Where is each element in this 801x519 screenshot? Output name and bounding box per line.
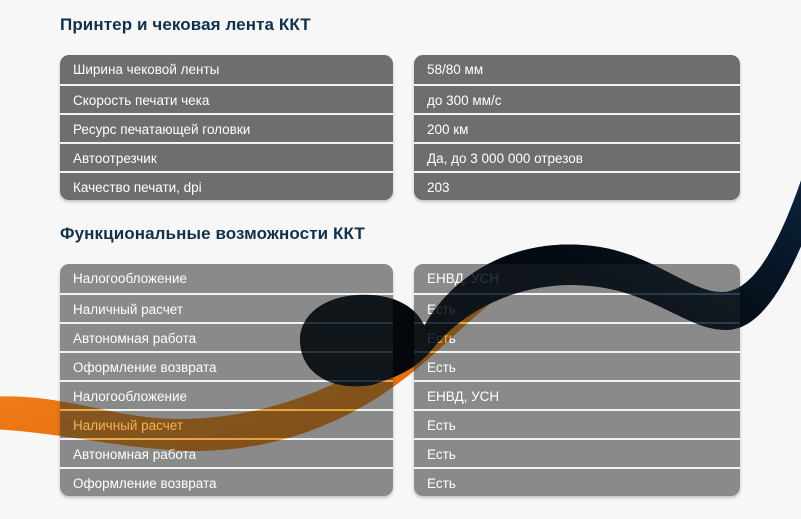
table-row: Наличный расчет xyxy=(60,409,393,438)
table-row: Ресурс печатающей головки xyxy=(60,113,393,142)
spec-table-features: Налогообложение Наличный расчет Автономн… xyxy=(60,264,740,496)
table-row: Налогообложение xyxy=(60,264,393,293)
table-row: Налогообложение xyxy=(60,380,393,409)
table-row: Автоотрезчик xyxy=(60,142,393,171)
table-row: до 300 мм/с xyxy=(414,84,740,113)
table-row: Есть xyxy=(414,438,740,467)
spec-column-values: ЕНВД, УСН Есть Есть Есть ЕНВД, УСН Есть … xyxy=(414,264,740,496)
table-row: ЕНВД, УСН xyxy=(414,264,740,293)
table-row: Оформление возврата xyxy=(60,467,393,496)
spec-column-labels: Налогообложение Наличный расчет Автономн… xyxy=(60,264,393,496)
table-row: 58/80 мм xyxy=(414,55,740,84)
table-row: Есть xyxy=(414,351,740,380)
table-row: Автономная работа xyxy=(60,322,393,351)
table-row: 200 км xyxy=(414,113,740,142)
table-row: Есть xyxy=(414,409,740,438)
table-row: Есть xyxy=(414,293,740,322)
spec-table-printer: Ширина чековой ленты Скорость печати чек… xyxy=(60,55,740,200)
table-row: Есть xyxy=(414,467,740,496)
table-row: Да, до 3 000 000 отрезов xyxy=(414,142,740,171)
table-row: Наличный расчет xyxy=(60,293,393,322)
table-row: 203 xyxy=(414,171,740,200)
spec-column-labels: Ширина чековой ленты Скорость печати чек… xyxy=(60,55,393,200)
table-row: Оформление возврата xyxy=(60,351,393,380)
page-title-features: Функциональные возможности ККТ xyxy=(60,224,365,244)
table-row: Есть xyxy=(414,322,740,351)
table-row: ЕНВД, УСН xyxy=(414,380,740,409)
table-row: Ширина чековой ленты xyxy=(60,55,393,84)
table-row: Скорость печати чека xyxy=(60,84,393,113)
spec-column-values: 58/80 мм до 300 мм/с 200 км Да, до 3 000… xyxy=(414,55,740,200)
page-title-printer: Принтер и чековая лента ККТ xyxy=(60,15,311,35)
table-row: Автономная работа xyxy=(60,438,393,467)
table-row: Качество печати, dpi xyxy=(60,171,393,200)
